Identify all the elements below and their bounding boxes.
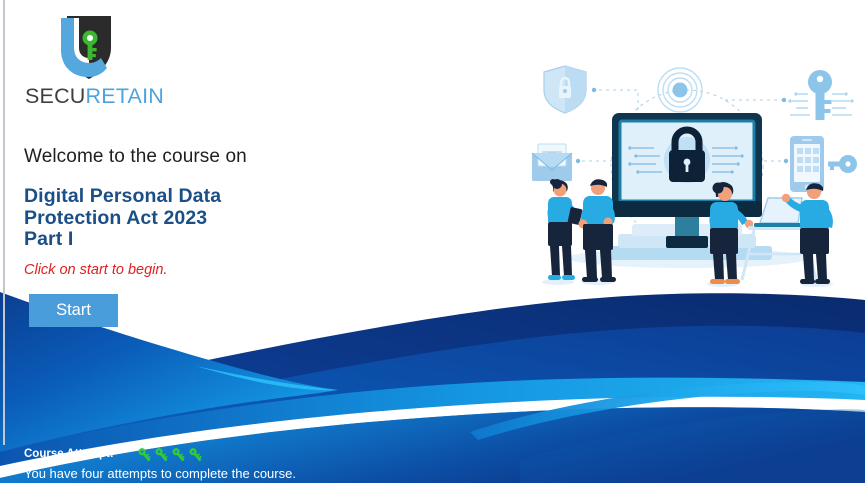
- left-edge-divider: [3, 0, 5, 445]
- shield-lock-icon: [544, 66, 586, 113]
- people-left-pair: [542, 179, 616, 285]
- click-start-hint: Click on start to begin.: [24, 262, 167, 278]
- welcome-line: Welcome to the course on: [24, 146, 247, 168]
- shield-key-logo-icon: [49, 12, 119, 84]
- course-title-line-1: Digital Personal Data: [24, 186, 221, 208]
- start-button[interactable]: Start: [29, 294, 118, 327]
- course-attempts-text: You have four attempts to complete the c…: [24, 466, 296, 481]
- course-title: Digital Personal Data Protection Act 202…: [24, 186, 221, 251]
- course-attempt-key-icons: [136, 446, 206, 463]
- brand-logo[interactable]: SECURETAIN: [25, 12, 200, 102]
- course-attempt-label: Course Attempt:: [24, 448, 114, 460]
- key-circuit-icon: [788, 70, 853, 120]
- envelope-mail-icon: [532, 144, 572, 181]
- brand-wordmark-retain: RETAIN: [86, 84, 164, 108]
- course-attempt-footer: Course Attempt:: [0, 444, 865, 483]
- course-welcome-screen: SECURETAIN Welcome to the course on Digi…: [0, 0, 865, 483]
- people-right-pair: [707, 182, 833, 287]
- smartphone-keypad-key-icon: [790, 136, 857, 192]
- course-title-line-3: Part I: [24, 229, 221, 251]
- brand-wordmark: SECURETAIN: [25, 84, 164, 109]
- cybersecurity-illustration: [520, 58, 865, 290]
- course-title-line-2: Protection Act 2023: [24, 208, 221, 230]
- brand-wordmark-secu: SECU: [25, 84, 86, 108]
